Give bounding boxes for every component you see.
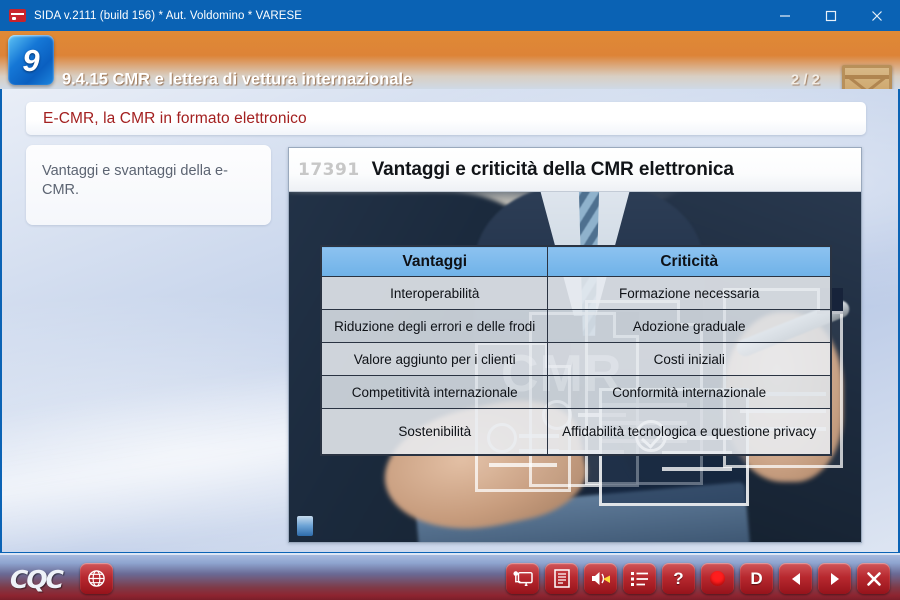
screen-button[interactable] bbox=[506, 563, 539, 594]
slide-title-bar: 17391 Vantaggi e criticità della CMR ele… bbox=[289, 148, 861, 192]
cell-vantaggi: Competitività internazionale bbox=[322, 376, 548, 409]
red-dot-icon bbox=[710, 571, 725, 586]
sida-logo-icon bbox=[297, 516, 313, 536]
page-indicator: 2 / 2 bbox=[791, 72, 820, 89]
title-bar: SIDA v.2111 (build 156) * Aut. Voldomino… bbox=[0, 0, 900, 31]
cell-criticita: Affidabilità tecnologica e questione pri… bbox=[548, 409, 831, 455]
help-button[interactable]: ? bbox=[662, 563, 695, 594]
window-title: SIDA v.2111 (build 156) * Aut. Voldomino… bbox=[34, 10, 302, 22]
note-box-text: Vantaggi e svantaggi della e-CMR. bbox=[42, 162, 255, 200]
cell-criticita: Costi iniziali bbox=[548, 343, 831, 376]
table-row: Interoperabilità Formazione necessaria bbox=[322, 277, 831, 310]
maximize-button[interactable] bbox=[808, 0, 854, 31]
cqc-logo: CQC bbox=[10, 565, 62, 594]
cell-criticita: Conformità internazionale bbox=[548, 376, 831, 409]
column-header-vantaggi: Vantaggi bbox=[322, 247, 548, 277]
table-row: Competitività internazionale Conformità … bbox=[322, 376, 831, 409]
column-header-criticita: Criticità bbox=[548, 247, 831, 277]
note-box: Vantaggi e svantaggi della e-CMR. bbox=[26, 145, 271, 225]
footer-toolbar: CQC bbox=[0, 553, 900, 600]
table-row: Valore aggiunto per i clienti Costi iniz… bbox=[322, 343, 831, 376]
slide-title: Vantaggi e criticità della CMR elettroni… bbox=[372, 159, 734, 181]
document-button[interactable] bbox=[545, 563, 578, 594]
cell-criticita: Adozione graduale bbox=[548, 310, 831, 343]
record-button[interactable] bbox=[701, 563, 734, 594]
comparison-table: Vantaggi Criticità Interoperabilità Form… bbox=[321, 246, 831, 455]
footer-button-group: ? D bbox=[506, 563, 890, 594]
table-header-row: Vantaggi Criticità bbox=[322, 247, 831, 277]
close-button[interactable] bbox=[854, 0, 900, 31]
letter-d-icon: D bbox=[750, 570, 762, 587]
slide-photo: CMR Vantaggi Criticità Interoperabilità … bbox=[289, 192, 861, 543]
chapter-badge-icon: 9 bbox=[8, 35, 54, 85]
chapter-header: 9 9.4.15 CMR e lettera di vettura intern… bbox=[0, 31, 900, 89]
window-controls bbox=[762, 0, 900, 31]
next-button[interactable] bbox=[818, 563, 851, 594]
audio-button[interactable] bbox=[584, 563, 617, 594]
chapter-badge-number: 9 bbox=[22, 45, 39, 76]
table-row: Riduzione degli errori e delle frodi Ado… bbox=[322, 310, 831, 343]
question-mark-icon: ? bbox=[673, 570, 683, 587]
cell-criticita: Formazione necessaria bbox=[548, 277, 831, 310]
application-window: SIDA v.2111 (build 156) * Aut. Voldomino… bbox=[0, 0, 900, 600]
minimize-button[interactable] bbox=[762, 0, 808, 31]
page-title: 9.4.15 CMR e lettera di vettura internaz… bbox=[62, 71, 412, 90]
cell-vantaggi: Valore aggiunto per i clienti bbox=[322, 343, 548, 376]
d-button[interactable]: D bbox=[740, 563, 773, 594]
slide-panel[interactable]: 17391 Vantaggi e criticità della CMR ele… bbox=[288, 147, 862, 543]
truck-icon bbox=[9, 9, 26, 22]
section-banner-text: E-CMR, la CMR in formato elettronico bbox=[43, 110, 307, 128]
globe-icon[interactable] bbox=[80, 563, 113, 594]
section-banner: E-CMR, la CMR in formato elettronico bbox=[26, 102, 866, 135]
cell-vantaggi: Interoperabilità bbox=[322, 277, 548, 310]
cell-vantaggi: Riduzione degli errori e delle frodi bbox=[322, 310, 548, 343]
crate-icon bbox=[842, 65, 892, 89]
cell-vantaggi: Sostenibilità bbox=[322, 409, 548, 455]
slide-number: 17391 bbox=[298, 160, 360, 180]
previous-button[interactable] bbox=[779, 563, 812, 594]
table-row: Sostenibilità Affidabilità tecnologica e… bbox=[322, 409, 831, 455]
exit-button[interactable] bbox=[857, 563, 890, 594]
list-button[interactable] bbox=[623, 563, 656, 594]
